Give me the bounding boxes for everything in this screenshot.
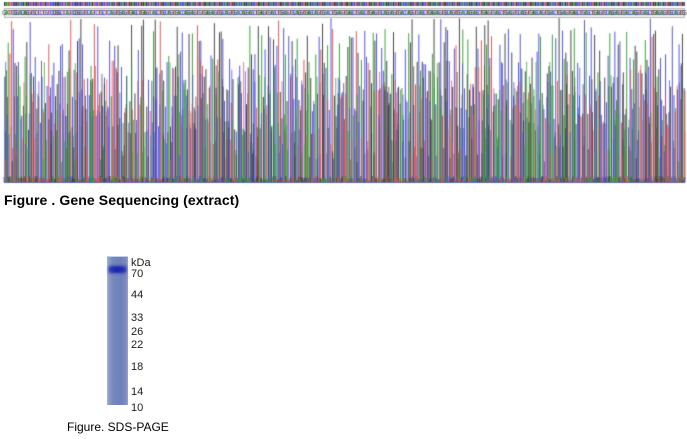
sds-page-figure: kDa7044332622181410 Figure. SDS-PAGE bbox=[0, 250, 687, 439]
gel-marker-26: 26 bbox=[131, 327, 143, 338]
gel-marker-22: 22 bbox=[131, 340, 143, 351]
gel-marker-14: 14 bbox=[131, 387, 143, 398]
gel-marker-18: 18 bbox=[131, 362, 143, 373]
gel-marker-70: 70 bbox=[131, 269, 143, 280]
molecular-weight-marker-labels: kDa7044332622181410 bbox=[131, 250, 191, 410]
gel-marker-10: 10 bbox=[131, 403, 143, 414]
gene-sequencing-caption: Figure . Gene Sequencing (extract) bbox=[4, 192, 239, 208]
gel-marker-44: 44 bbox=[131, 290, 143, 301]
gene-sequencing-figure bbox=[0, 0, 687, 186]
gel-protein-band bbox=[109, 266, 126, 273]
gel-marker-33: 33 bbox=[131, 313, 143, 324]
gel-lane bbox=[107, 256, 128, 405]
sds-page-caption: Figure. SDS-PAGE bbox=[67, 420, 169, 434]
sequencing-chromatogram-trace bbox=[0, 0, 687, 186]
